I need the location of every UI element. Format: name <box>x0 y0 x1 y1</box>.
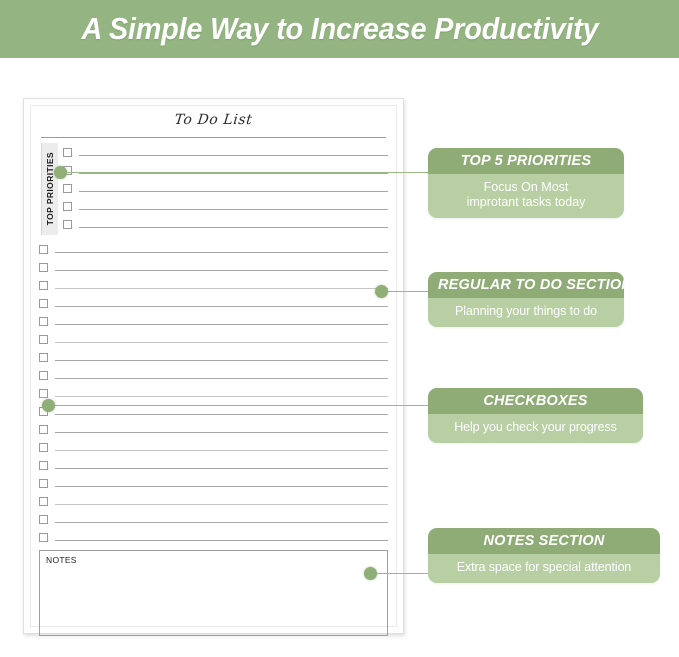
todo-row[interactable] <box>39 438 388 456</box>
write-line[interactable] <box>55 378 388 379</box>
priorities-label-text: TOP PRIORITIES <box>45 152 55 225</box>
write-line[interactable] <box>55 270 388 271</box>
callout-body-line: Planning your things to do <box>437 304 615 319</box>
infographic-root: A Simple Way to Increase Productivity To… <box>0 0 679 657</box>
write-line[interactable] <box>55 306 388 307</box>
planner-card: To Do List TOP PRIORITIES NOTES <box>23 98 404 634</box>
write-line[interactable] <box>55 324 388 325</box>
todo-row[interactable] <box>39 528 388 546</box>
callout-body: Help you check your progress <box>428 414 643 443</box>
regular-rows <box>39 240 388 546</box>
write-line[interactable] <box>55 450 388 451</box>
checkbox[interactable] <box>63 202 72 211</box>
checkbox[interactable] <box>39 281 48 290</box>
checkbox[interactable] <box>39 533 48 542</box>
callout-checkboxes[interactable]: CHECKBOXES Help you check your progress <box>428 388 643 443</box>
checkbox[interactable] <box>39 443 48 452</box>
checkbox[interactable] <box>39 479 48 488</box>
title-divider <box>41 137 386 138</box>
todo-row[interactable] <box>39 510 388 528</box>
todo-row[interactable] <box>39 366 388 384</box>
checkbox[interactable] <box>39 299 48 308</box>
write-line[interactable] <box>79 209 388 210</box>
priorities-rows <box>63 143 388 233</box>
callout-heading: REGULAR TO DO SECTION <box>428 272 624 298</box>
connector-line-priorities <box>60 172 428 173</box>
todo-row[interactable] <box>39 492 388 510</box>
checkbox[interactable] <box>39 353 48 362</box>
callout-heading: NOTES SECTION <box>428 528 660 554</box>
connector-dot-regular <box>375 285 388 298</box>
checkbox[interactable] <box>39 245 48 254</box>
checkbox[interactable] <box>39 497 48 506</box>
todo-row[interactable] <box>39 456 388 474</box>
write-line[interactable] <box>55 432 388 433</box>
checkbox[interactable] <box>39 389 48 398</box>
connector-line-regular <box>381 291 428 292</box>
page-title: A Simple Way to Increase Productivity <box>81 11 598 47</box>
callout-body: Extra space for special attention <box>428 554 660 583</box>
todo-row[interactable] <box>39 384 388 402</box>
write-line[interactable] <box>55 414 388 415</box>
callout-regular-to-do-section[interactable]: REGULAR TO DO SECTION Planning your thin… <box>428 272 624 327</box>
todo-row[interactable] <box>39 258 388 276</box>
checkbox[interactable] <box>39 371 48 380</box>
checkbox[interactable] <box>63 184 72 193</box>
notes-label: NOTES <box>46 555 381 565</box>
connector-line-notes <box>370 573 428 574</box>
connector-line-checkboxes <box>48 405 428 406</box>
checkbox[interactable] <box>39 515 48 524</box>
notes-box[interactable]: NOTES <box>39 550 388 636</box>
checkbox[interactable] <box>39 425 48 434</box>
write-line[interactable] <box>55 288 388 289</box>
write-line[interactable] <box>55 486 388 487</box>
write-line[interactable] <box>79 227 388 228</box>
callout-body-line: Focus On Most <box>437 180 615 195</box>
todo-row[interactable] <box>63 215 388 233</box>
todo-row[interactable] <box>39 348 388 366</box>
priorities-section: TOP PRIORITIES <box>39 143 388 237</box>
write-line[interactable] <box>55 504 388 505</box>
todo-row[interactable] <box>63 143 388 161</box>
write-line[interactable] <box>79 173 388 174</box>
connector-dot-checkboxes <box>42 399 55 412</box>
write-line[interactable] <box>79 191 388 192</box>
write-line[interactable] <box>55 342 388 343</box>
callout-notes-section[interactable]: NOTES SECTION Extra space for special at… <box>428 528 660 583</box>
connector-dot-priorities <box>54 166 67 179</box>
todo-row[interactable] <box>63 161 388 179</box>
todo-row[interactable] <box>39 240 388 258</box>
callout-body: Focus On Most improtant tasks today <box>428 174 624 218</box>
callout-body-line: improtant tasks today <box>437 195 615 210</box>
callout-body-line: Extra space for special attention <box>437 560 651 575</box>
checkbox[interactable] <box>39 263 48 272</box>
write-line[interactable] <box>55 252 388 253</box>
todo-row[interactable] <box>39 276 388 294</box>
write-line[interactable] <box>55 468 388 469</box>
connector-dot-notes <box>364 567 377 580</box>
write-line[interactable] <box>55 396 388 397</box>
todo-row[interactable] <box>63 197 388 215</box>
todo-row[interactable] <box>39 330 388 348</box>
checkbox[interactable] <box>39 317 48 326</box>
checkbox[interactable] <box>63 220 72 229</box>
checkbox[interactable] <box>39 335 48 344</box>
priorities-label: TOP PRIORITIES <box>41 143 58 235</box>
callout-body-line: Help you check your progress <box>437 420 634 435</box>
callout-body: Planning your things to do <box>428 298 624 327</box>
write-line[interactable] <box>55 360 388 361</box>
callout-heading: CHECKBOXES <box>428 388 643 414</box>
write-line[interactable] <box>55 540 388 541</box>
write-line[interactable] <box>79 155 388 156</box>
todo-row[interactable] <box>39 474 388 492</box>
todo-list-title: To Do List <box>38 112 389 128</box>
callout-heading: TOP 5 PRIORITIES <box>428 148 624 174</box>
page-banner: A Simple Way to Increase Productivity <box>0 0 679 58</box>
planner-card-inner: To Do List TOP PRIORITIES NOTES <box>30 105 397 627</box>
checkbox[interactable] <box>39 461 48 470</box>
todo-row[interactable] <box>39 420 388 438</box>
checkbox[interactable] <box>63 148 72 157</box>
todo-row[interactable] <box>63 179 388 197</box>
callout-top-5-priorities[interactable]: TOP 5 PRIORITIES Focus On Most improtant… <box>428 148 624 218</box>
todo-row[interactable] <box>39 294 388 312</box>
write-line[interactable] <box>55 522 388 523</box>
todo-row[interactable] <box>39 312 388 330</box>
